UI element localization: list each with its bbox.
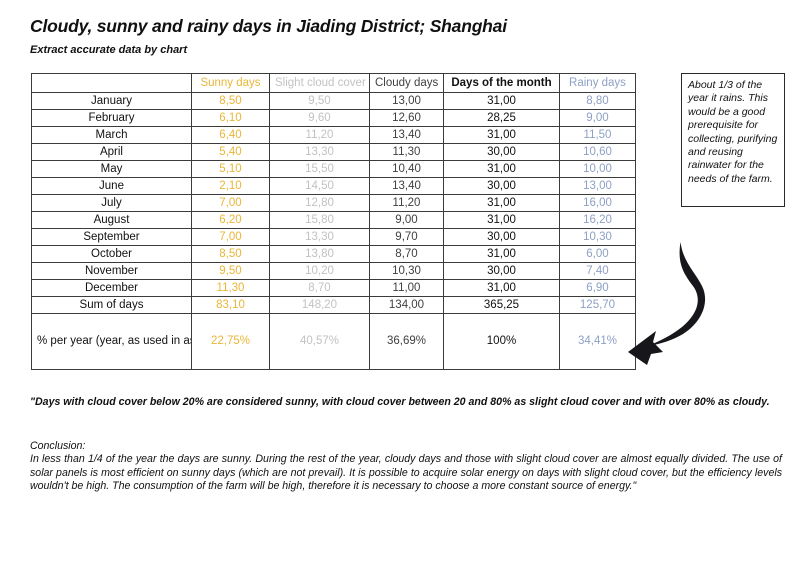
cell-month: November xyxy=(32,263,192,280)
cell-slight: 9,60 xyxy=(270,110,370,127)
percent-cell-rainy: 34,41% xyxy=(560,314,636,370)
cell-rainy: 7,40 xyxy=(560,263,636,280)
table-row: June2,1014,5013,4030,0013,00 xyxy=(32,178,636,195)
cell-slight: 11,20 xyxy=(270,127,370,144)
cell-days: 31,00 xyxy=(444,161,560,178)
sum-cell-sunny: 83,10 xyxy=(192,297,270,314)
table-row: January8,509,5013,0031,008,80 xyxy=(32,93,636,110)
cell-cloudy: 12,60 xyxy=(370,110,444,127)
cell-rainy: 16,20 xyxy=(560,212,636,229)
cell-days: 31,00 xyxy=(444,212,560,229)
cell-slight: 10,20 xyxy=(270,263,370,280)
cell-rainy: 9,00 xyxy=(560,110,636,127)
table-row: October8,5013,808,7031,006,00 xyxy=(32,246,636,263)
sum-of-days-row: Sum of days83,10148,20134,00365,25125,70 xyxy=(32,297,636,314)
cell-month: February xyxy=(32,110,192,127)
column-header-month xyxy=(32,74,192,93)
conclusion-body: In less than 1/4 of the year the days ar… xyxy=(30,453,782,494)
column-header-rainy: Rainy days xyxy=(560,74,636,93)
cell-slight: 13,30 xyxy=(270,144,370,161)
cell-slight: 15,80 xyxy=(270,212,370,229)
cell-slight: 13,80 xyxy=(270,246,370,263)
column-header-days: Days of the month xyxy=(444,74,560,93)
cell-slight: 9,50 xyxy=(270,93,370,110)
cell-rainy: 10,30 xyxy=(560,229,636,246)
cell-days: 31,00 xyxy=(444,93,560,110)
table-row: December11,308,7011,0031,006,90 xyxy=(32,280,636,297)
definition-note: "Days with cloud cover below 20% are con… xyxy=(30,396,778,410)
cell-sunny: 9,50 xyxy=(192,263,270,280)
percent-cell-sunny: 22,75% xyxy=(192,314,270,370)
cell-rainy: 16,00 xyxy=(560,195,636,212)
cell-month: January xyxy=(32,93,192,110)
cell-days: 30,00 xyxy=(444,263,560,280)
cell-days: 30,00 xyxy=(444,144,560,161)
conclusion-label: Conclusion: xyxy=(30,440,85,452)
cell-days: 31,00 xyxy=(444,127,560,144)
cell-rainy: 6,90 xyxy=(560,280,636,297)
cell-cloudy: 11,00 xyxy=(370,280,444,297)
table-row: August6,2015,809,0031,0016,20 xyxy=(32,212,636,229)
cell-sunny: 8,50 xyxy=(192,93,270,110)
cell-cloudy: 9,00 xyxy=(370,212,444,229)
cell-days: 31,00 xyxy=(444,195,560,212)
weather-data-table: Sunny daysSlight cloud coverCloudy daysD… xyxy=(31,73,635,370)
cell-rainy: 11,50 xyxy=(560,127,636,144)
percent-cell-days: 100% xyxy=(444,314,560,370)
cell-rainy: 8,80 xyxy=(560,93,636,110)
page-subtitle: Extract accurate data by chart xyxy=(30,44,187,56)
table-row: April5,4013,3011,3030,0010,60 xyxy=(32,144,636,161)
cell-days: 30,00 xyxy=(444,178,560,195)
cell-slight: 15,50 xyxy=(270,161,370,178)
cell-month: August xyxy=(32,212,192,229)
cell-month: September xyxy=(32,229,192,246)
column-header-slight: Slight cloud cover xyxy=(270,74,370,93)
cell-sunny: 2,10 xyxy=(192,178,270,195)
percent-cell-month: % per year (year, as used in astronomy i… xyxy=(32,314,192,370)
sum-cell-rainy: 125,70 xyxy=(560,297,636,314)
cell-month: June xyxy=(32,178,192,195)
table-row: February6,109,6012,6028,259,00 xyxy=(32,110,636,127)
cell-slight: 13,30 xyxy=(270,229,370,246)
sum-cell-slight: 148,20 xyxy=(270,297,370,314)
cell-month: April xyxy=(32,144,192,161)
table-row: May5,1015,5010,4031,0010,00 xyxy=(32,161,636,178)
cell-cloudy: 11,20 xyxy=(370,195,444,212)
cell-month: October xyxy=(32,246,192,263)
column-header-cloudy: Cloudy days xyxy=(370,74,444,93)
cell-cloudy: 10,30 xyxy=(370,263,444,280)
cell-sunny: 6,10 xyxy=(192,110,270,127)
cell-sunny: 8,50 xyxy=(192,246,270,263)
table-row: July7,0012,8011,2031,0016,00 xyxy=(32,195,636,212)
cell-days: 31,00 xyxy=(444,280,560,297)
cell-sunny: 7,00 xyxy=(192,195,270,212)
cell-sunny: 6,20 xyxy=(192,212,270,229)
cell-days: 30,00 xyxy=(444,229,560,246)
cell-slight: 8,70 xyxy=(270,280,370,297)
cell-rainy: 13,00 xyxy=(560,178,636,195)
sum-cell-days: 365,25 xyxy=(444,297,560,314)
cell-cloudy: 10,40 xyxy=(370,161,444,178)
cell-slight: 12,80 xyxy=(270,195,370,212)
cell-cloudy: 13,40 xyxy=(370,178,444,195)
cell-cloudy: 11,30 xyxy=(370,144,444,161)
cell-sunny: 5,40 xyxy=(192,144,270,161)
column-header-sunny: Sunny days xyxy=(192,74,270,93)
note-box: About 1/3 of the year it rains. This wou… xyxy=(681,73,785,207)
cell-sunny: 11,30 xyxy=(192,280,270,297)
page-title: Cloudy, sunny and rainy days in Jiading … xyxy=(30,16,507,37)
cell-sunny: 5,10 xyxy=(192,161,270,178)
cell-cloudy: 13,00 xyxy=(370,93,444,110)
cell-cloudy: 13,40 xyxy=(370,127,444,144)
percent-cell-slight: 40,57% xyxy=(270,314,370,370)
table-row: September7,0013,309,7030,0010,30 xyxy=(32,229,636,246)
cell-month: December xyxy=(32,280,192,297)
cell-month: May xyxy=(32,161,192,178)
sum-cell-cloudy: 134,00 xyxy=(370,297,444,314)
cell-days: 31,00 xyxy=(444,246,560,263)
cell-cloudy: 9,70 xyxy=(370,229,444,246)
cell-rainy: 10,60 xyxy=(560,144,636,161)
sum-cell-month: Sum of days xyxy=(32,297,192,314)
table-row: March6,4011,2013,4031,0011,50 xyxy=(32,127,636,144)
cell-sunny: 7,00 xyxy=(192,229,270,246)
cell-days: 28,25 xyxy=(444,110,560,127)
cell-cloudy: 8,70 xyxy=(370,246,444,263)
cell-month: March xyxy=(32,127,192,144)
cell-rainy: 10,00 xyxy=(560,161,636,178)
cell-sunny: 6,40 xyxy=(192,127,270,144)
cell-slight: 14,50 xyxy=(270,178,370,195)
table: Sunny daysSlight cloud coverCloudy daysD… xyxy=(31,73,636,370)
percent-cell-cloudy: 36,69% xyxy=(370,314,444,370)
table-header-row: Sunny daysSlight cloud coverCloudy daysD… xyxy=(32,74,636,93)
percent-per-year-row: % per year (year, as used in astronomy i… xyxy=(32,314,636,370)
cell-month: July xyxy=(32,195,192,212)
cell-rainy: 6,00 xyxy=(560,246,636,263)
table-row: November9,5010,2010,3030,007,40 xyxy=(32,263,636,280)
